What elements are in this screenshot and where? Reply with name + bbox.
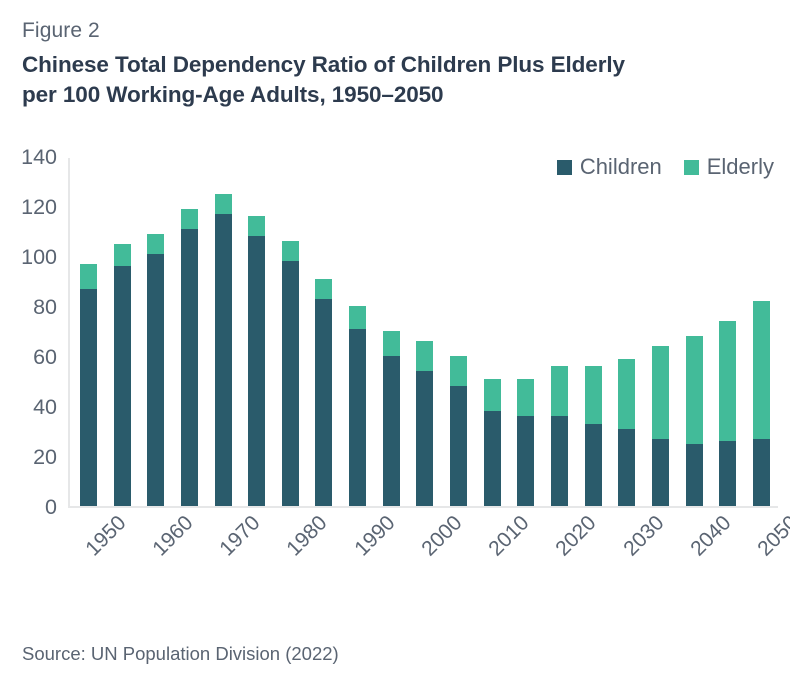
bar-segment-elderly[interactable] (753, 301, 770, 439)
x-axis-tick-1970: 1970 (216, 512, 264, 560)
bar-column-1955[interactable] (114, 158, 131, 506)
bar-segment-children[interactable] (248, 236, 265, 506)
bar-segment-children[interactable] (652, 439, 669, 507)
bar-segment-children[interactable] (349, 329, 366, 507)
bar-segment-elderly[interactable] (484, 379, 501, 412)
bar-segment-elderly[interactable] (315, 279, 332, 299)
bar-segment-elderly[interactable] (686, 336, 703, 444)
x-axis-tick-2000: 2000 (418, 512, 466, 560)
bar-column-2050[interactable] (753, 158, 770, 506)
y-axis-tick-120: 120 (0, 197, 57, 218)
bar-column-1975[interactable] (248, 158, 265, 506)
bar-segment-children[interactable] (753, 439, 770, 507)
bar-segment-children[interactable] (618, 429, 635, 507)
y-axis-tick-20: 20 (0, 447, 57, 468)
bar-segment-children[interactable] (450, 386, 467, 506)
bar-segment-elderly[interactable] (80, 264, 97, 289)
bar-segment-children[interactable] (484, 411, 501, 506)
bar-segment-elderly[interactable] (383, 331, 400, 356)
x-axis: 1950196019701980199020002010202020302040… (68, 512, 778, 602)
bar-segment-elderly[interactable] (147, 234, 164, 254)
bar-column-1985[interactable] (315, 158, 332, 506)
x-axis-tick-2030: 2030 (620, 512, 668, 560)
bar-segment-elderly[interactable] (517, 379, 534, 417)
bar-column-2040[interactable] (686, 158, 703, 506)
bar-segment-elderly[interactable] (450, 356, 467, 386)
x-axis-tick-1990: 1990 (351, 512, 399, 560)
bar-segment-children[interactable] (315, 299, 332, 507)
bar-segment-elderly[interactable] (181, 209, 198, 229)
x-axis-tick-2040: 2040 (687, 512, 735, 560)
y-axis-tick-140: 140 (0, 147, 57, 168)
y-axis-tick-100: 100 (0, 247, 57, 268)
bar-column-1965[interactable] (181, 158, 198, 506)
bar-segment-children[interactable] (147, 254, 164, 507)
x-axis-tick-2020: 2020 (552, 512, 600, 560)
bar-segment-children[interactable] (282, 261, 299, 506)
page-title: Chinese Total Dependency Ratio of Childr… (22, 50, 778, 110)
plot-area (68, 158, 778, 508)
bar-column-2005[interactable] (450, 158, 467, 506)
bar-column-2015[interactable] (517, 158, 534, 506)
figure-title-line-1: Chinese Total Dependency Ratio of Childr… (22, 50, 778, 80)
x-axis-tick-2010: 2010 (485, 512, 533, 560)
x-axis-tick-1950: 1950 (81, 512, 129, 560)
x-axis-tick-1980: 1980 (283, 512, 331, 560)
bar-segment-elderly[interactable] (349, 306, 366, 329)
bar-column-2035[interactable] (652, 158, 669, 506)
bar-segment-elderly[interactable] (416, 341, 433, 371)
bar-column-1970[interactable] (215, 158, 232, 506)
x-axis-line (68, 506, 778, 508)
bar-segment-elderly[interactable] (719, 321, 736, 441)
bar-column-2000[interactable] (416, 158, 433, 506)
bar-segment-children[interactable] (383, 356, 400, 506)
bar-segment-children[interactable] (719, 441, 736, 506)
y-axis-tick-0: 0 (0, 497, 57, 518)
source-note: Source: UN Population Division (2022) (22, 643, 339, 665)
bar-segment-elderly[interactable] (585, 366, 602, 424)
figure-number-label: Figure 2 (22, 18, 778, 44)
bar-segment-elderly[interactable] (618, 359, 635, 429)
bar-segment-children[interactable] (215, 214, 232, 507)
x-axis-tick-1960: 1960 (149, 512, 197, 560)
stacked-bar-chart: 140120100806040200 195019601970198019902… (0, 150, 790, 520)
figure-title-line-2: per 100 Working-Age Adults, 1950–2050 (22, 80, 778, 110)
bar-column-1990[interactable] (349, 158, 366, 506)
bar-segment-children[interactable] (416, 371, 433, 506)
bar-segment-elderly[interactable] (215, 194, 232, 214)
bar-series-container (70, 158, 778, 506)
bar-segment-children[interactable] (114, 266, 131, 506)
bar-segment-children[interactable] (585, 424, 602, 507)
bar-column-1950[interactable] (80, 158, 97, 506)
bar-column-2030[interactable] (618, 158, 635, 506)
bar-column-2010[interactable] (484, 158, 501, 506)
bar-segment-children[interactable] (517, 416, 534, 506)
y-axis: 140120100806040200 (0, 150, 57, 520)
bar-column-1960[interactable] (147, 158, 164, 506)
bar-segment-elderly[interactable] (114, 244, 131, 267)
y-axis-tick-60: 60 (0, 347, 57, 368)
bar-segment-children[interactable] (686, 444, 703, 507)
y-axis-tick-80: 80 (0, 297, 57, 318)
y-axis-tick-40: 40 (0, 397, 57, 418)
bar-segment-children[interactable] (181, 229, 198, 507)
bar-segment-children[interactable] (80, 289, 97, 507)
bar-column-2025[interactable] (585, 158, 602, 506)
bar-column-1980[interactable] (282, 158, 299, 506)
bar-segment-elderly[interactable] (282, 241, 299, 261)
bar-segment-elderly[interactable] (652, 346, 669, 439)
x-axis-tick-2050: 2050 (754, 512, 790, 560)
bar-column-1995[interactable] (383, 158, 400, 506)
bar-column-2045[interactable] (719, 158, 736, 506)
bar-segment-elderly[interactable] (551, 366, 568, 416)
bar-column-2020[interactable] (551, 158, 568, 506)
bar-segment-elderly[interactable] (248, 216, 265, 236)
bar-segment-children[interactable] (551, 416, 568, 506)
figure-header: Figure 2 Chinese Total Dependency Ratio … (22, 18, 778, 110)
